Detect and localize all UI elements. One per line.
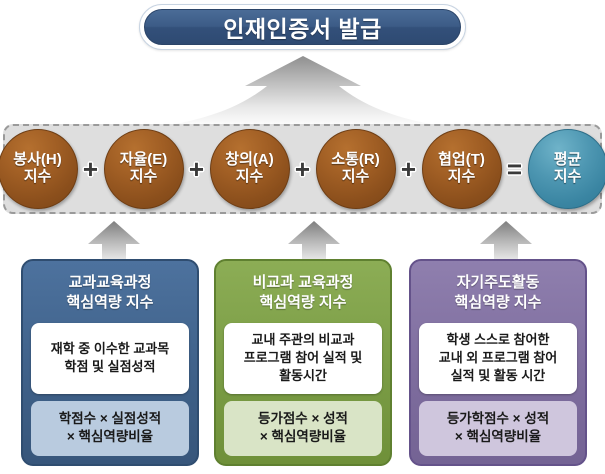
page-title: 인재인증서 발급 <box>223 10 382 44</box>
index-circle-line1: 평균 <box>554 152 582 169</box>
plus-operator-2: + <box>184 156 210 182</box>
index-circle-sotong[interactable]: 소통(R) 지수 <box>316 129 396 209</box>
column-header-curricular: 교과교육과정 핵심역량 지수 <box>31 268 189 323</box>
column-card-self-directed[interactable]: 자기주도활동 핵심역량 지수 학생 스스로 참어한 교내 외 프로그램 참어 실… <box>409 259 587 466</box>
column-header-self-directed: 자기주도활동 핵심역량 지수 <box>419 268 577 323</box>
diagram-canvas: 인재인증서 발급 봉사(H) 지수 + 자율(E) 지수 + 창의(A) 지수 <box>0 0 605 474</box>
column-card-curricular[interactable]: 교과교육과정 핵심역량 지수 재학 중 이수한 교과목 학점 및 실점성적 학점… <box>21 259 199 466</box>
column-description-extracurricular: 교내 주관의 비교과 프로그램 참어 실적 및 활동시간 <box>224 323 382 394</box>
plus-operator-3: + <box>290 156 316 182</box>
column-formula-curricular: 학점수 × 실점성적 × 핵심역량비율 <box>31 401 189 456</box>
column-card-extracurricular[interactable]: 비교과 교육과정 핵심역량 지수 교내 주관의 비교과 프로그램 참어 실적 및… <box>214 259 392 466</box>
index-circle-bongsa[interactable]: 봉사(H) 지수 <box>0 129 78 209</box>
plus-operator-1: + <box>78 156 104 182</box>
index-circle-changui[interactable]: 창의(A) 지수 <box>210 129 290 209</box>
column-description-self-directed: 학생 스스로 참어한 교내 외 프로그램 참어 실적 및 활동 시간 <box>419 323 577 394</box>
index-circle-line1: 창의(A) <box>225 152 273 169</box>
column-header-extracurricular: 비교과 교육과정 핵심역량 지수 <box>224 268 382 323</box>
index-circle-jayul[interactable]: 자율(E) 지수 <box>104 129 184 209</box>
index-circle-hyeopeop[interactable]: 협업(T) 지수 <box>422 129 502 209</box>
index-circle-line1: 소통(R) <box>331 152 379 169</box>
index-circle-average[interactable]: 평균 지수 <box>528 129 605 209</box>
column-formula-self-directed: 등가학점수 × 성적 × 핵심역량비율 <box>419 401 577 456</box>
index-circle-line1: 협업(T) <box>438 152 485 169</box>
index-circle-line1: 봉사(H) <box>13 152 61 169</box>
index-circle-line2: 지수 <box>24 169 52 186</box>
plus-operator-4: + <box>396 156 422 182</box>
equals-operator: = <box>502 156 528 182</box>
certificate-title-banner: 인재인증서 발급 <box>144 9 461 45</box>
index-circle-line2: 지수 <box>554 169 582 186</box>
index-circle-line1: 자율(E) <box>120 152 168 169</box>
index-circle-line2: 지수 <box>342 169 370 186</box>
index-circle-line2: 지수 <box>236 169 264 186</box>
column-formula-extracurricular: 등가점수 × 성적 × 핵심역량비율 <box>224 401 382 456</box>
main-upward-arrow-icon <box>173 54 433 128</box>
index-circle-line2: 지수 <box>448 169 476 186</box>
index-circle-line2: 지수 <box>130 169 158 186</box>
column-description-curricular: 재학 중 이수한 교과목 학점 및 실점성적 <box>31 323 189 394</box>
index-circle-row: 봉사(H) 지수 + 자율(E) 지수 + 창의(A) 지수 + 소통(R) 지… <box>0 124 605 214</box>
